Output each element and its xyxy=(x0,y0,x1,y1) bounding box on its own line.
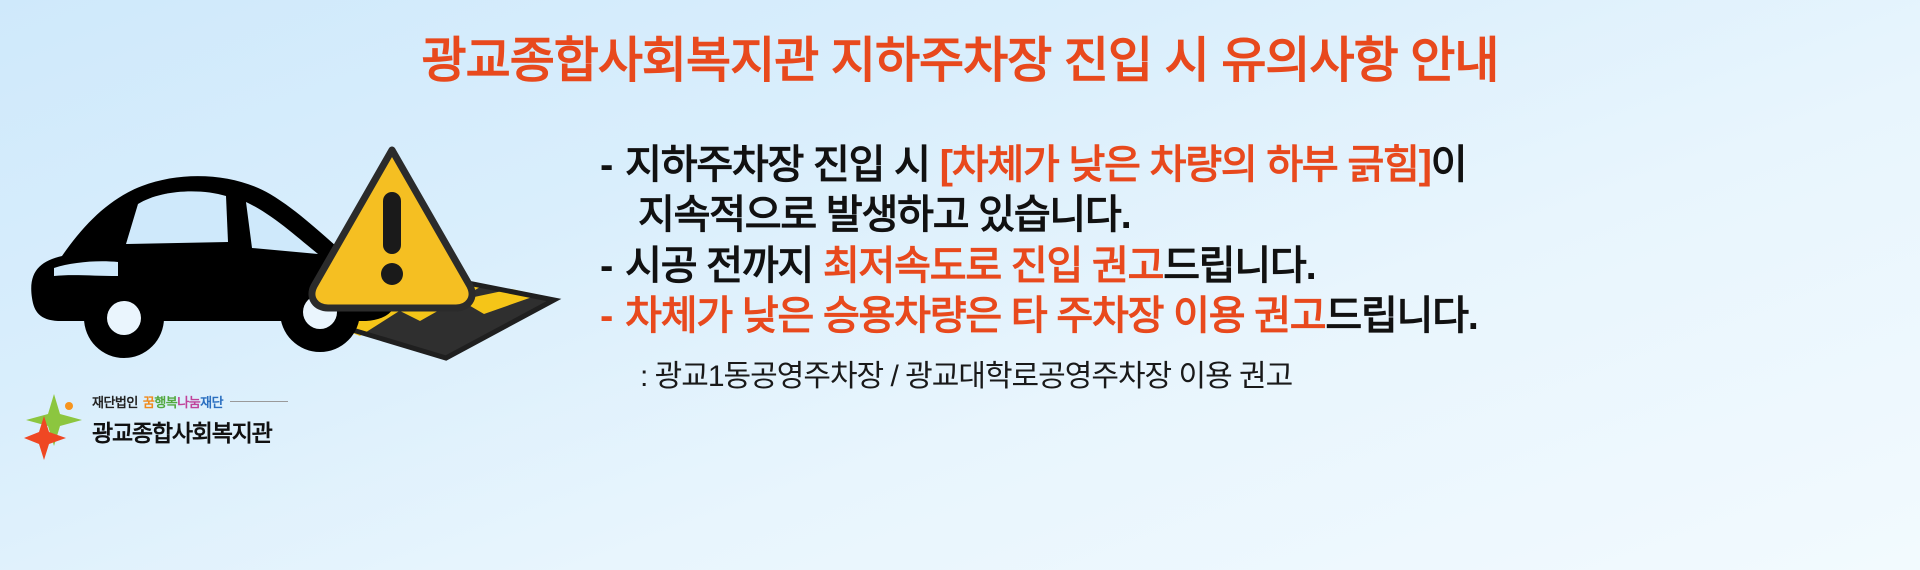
logo-divider-rule xyxy=(230,401,288,402)
logo-prefix: 재단법인 xyxy=(92,392,138,411)
bullet-dash: - xyxy=(600,140,612,190)
notice-text-highlight: [차체가 낮은 차량의 하부 긁힘] xyxy=(940,143,1431,187)
notice-text: 시공 전까지 최저속도로 진입 권고드립니다. xyxy=(625,241,1315,291)
notice-list: - 지하주차장 진입 시 [차체가 낮은 차량의 하부 긁힘]이 지속적으로 발… xyxy=(600,140,1910,395)
notice-text-plain: 지하주차장 진입 시 xyxy=(625,143,940,187)
bullet-dash: - xyxy=(600,241,612,291)
bullet-dash: - xyxy=(600,291,612,341)
logo-organization-name: 광교종합사회복지관 xyxy=(92,414,288,448)
notice-item: - 차체가 낮은 승용차량은 타 주차장 이용 권고드립니다. xyxy=(600,291,1910,341)
page-title: 광교종합사회복지관 지하주차장 진입 시 유의사항 안내 xyxy=(0,36,1920,87)
notice-continuation-text: 지속적으로 발생하고 있습니다. xyxy=(638,190,1131,240)
notice-text-plain: 드립니다. xyxy=(1325,294,1477,338)
parking-hazard-illustration xyxy=(14,120,574,380)
notice-item: - 지하주차장 진입 시 [차체가 낮은 차량의 하부 긁힘]이 지속적으로 발… xyxy=(600,140,1910,241)
notice-text-plain: 시공 전까지 xyxy=(625,244,823,288)
notice-text-highlight: 최저속도로 진입 권고 xyxy=(823,244,1163,288)
notice-text: 지하주차장 진입 시 [차체가 낮은 차량의 하부 긁힘]이 xyxy=(625,140,1466,190)
notice-subnote: : 광교1동공영주차장 / 광교대학로공영주차장 이용 권고 xyxy=(600,351,1910,395)
notice-text-highlight: 차체가 낮은 승용차량은 타 주차장 이용 권고 xyxy=(625,294,1325,338)
organization-logo: 재단법인 꿈행복나눔재단 광교종합사회복지관 xyxy=(24,392,444,462)
logo-foundation-line: 재단법인 꿈행복나눔재단 xyxy=(92,392,288,411)
warning-exclamation-triangle xyxy=(312,150,472,308)
logo-foundation-name: 꿈행복나눔재단 xyxy=(143,392,223,411)
logo-text-block: 재단법인 꿈행복나눔재단 광교종합사회복지관 xyxy=(92,392,288,448)
notice-item: - 시공 전까지 최저속도로 진입 권고드립니다. xyxy=(600,241,1910,291)
notice-continuation-line: 지속적으로 발생하고 있습니다. xyxy=(600,190,1910,240)
notice-text: 차체가 낮은 승용차량은 타 주차장 이용 권고드립니다. xyxy=(625,291,1478,341)
parking-notice-banner: 광교종합사회복지관 지하주차장 진입 시 유의사항 안내 xyxy=(0,0,1920,570)
notice-text-plain: 이 xyxy=(1431,143,1467,187)
notice-text-plain: 드립니다. xyxy=(1163,244,1315,288)
four-point-star-logo xyxy=(24,394,82,460)
